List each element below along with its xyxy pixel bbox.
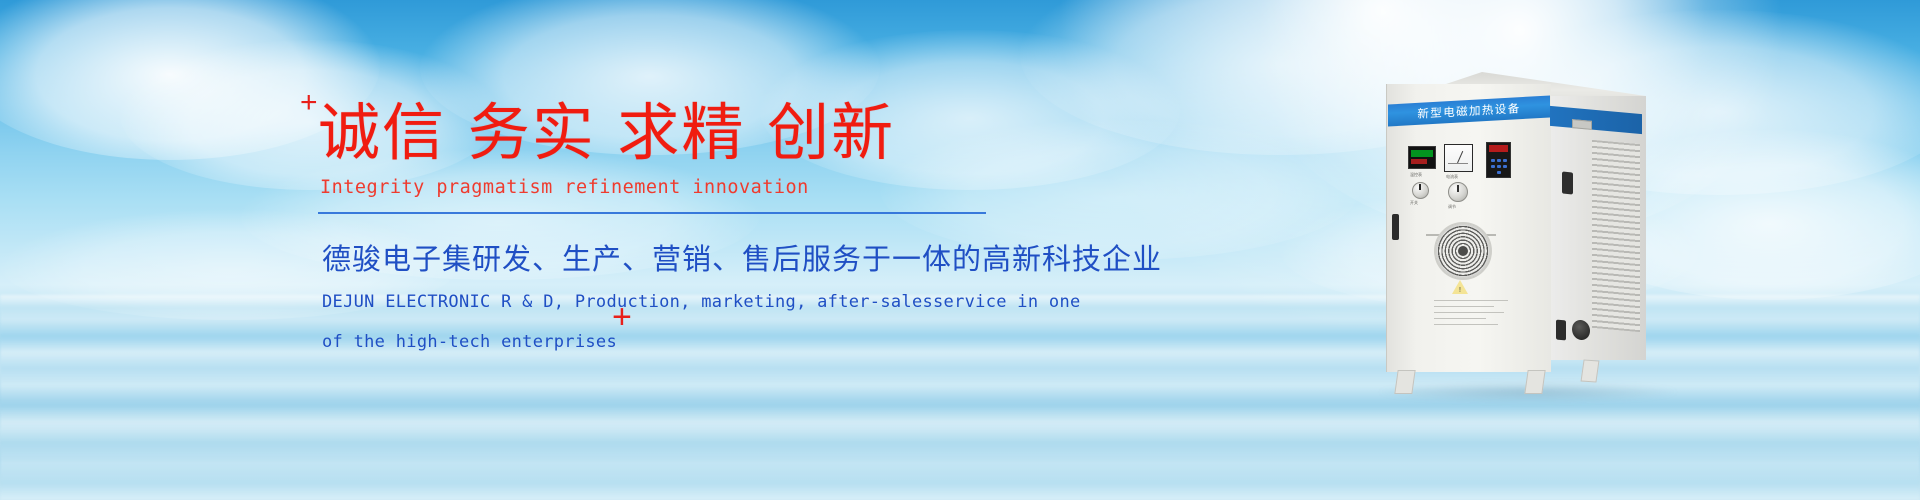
cooling-fan-icon (1434, 222, 1492, 280)
description-english-line1: DEJUN ELECTRONIC R & D, Production, mark… (322, 288, 1018, 318)
meter-digits-green (1411, 150, 1433, 157)
cabinet-foot (1524, 370, 1545, 394)
control-label: 开关 (1410, 200, 1418, 206)
keypad-button (1497, 159, 1501, 162)
plus-decoration-icon: + (300, 88, 318, 118)
side-latch (1572, 119, 1592, 130)
front-edge-trim (1392, 214, 1399, 240)
control-label: 调节 (1448, 204, 1456, 210)
keypad-controller-icon (1486, 142, 1511, 178)
selector-knob-icon (1412, 182, 1429, 199)
keypad-button (1497, 165, 1501, 168)
meter-digits-red (1411, 159, 1427, 164)
connector-port (1556, 320, 1566, 341)
headline-subtitle-english: Integrity pragmatism refinement innovati… (320, 177, 1018, 198)
product-label-text: 新型电磁加热设备 (1417, 100, 1520, 122)
keypad-button (1491, 165, 1495, 168)
gauge-needle-icon (1457, 151, 1463, 163)
digital-meter-icon (1408, 146, 1436, 169)
control-label: 电流表 (1446, 174, 1458, 180)
page-title: 诚信 务实 求精 创新 (318, 96, 1018, 169)
ventilation-louvers (1592, 140, 1640, 332)
adjustment-knob-icon (1448, 182, 1468, 202)
company-banner: + + 诚信 务实 求精 创新 Integrity pragmatism ref… (0, 0, 1920, 500)
keypad-button (1503, 165, 1507, 168)
cable-gland-icon (1572, 319, 1590, 341)
analog-gauge-icon (1444, 144, 1473, 172)
description-english-line2: of the high-tech enterprises (322, 328, 1018, 358)
cabinet-foot (1394, 370, 1415, 394)
instruction-text-lines (1434, 300, 1510, 330)
door-handle (1562, 171, 1573, 194)
divider (318, 212, 986, 214)
control-label: 温控表 (1410, 172, 1422, 178)
keypad-display (1489, 145, 1508, 152)
keypad-button (1497, 171, 1501, 174)
product-image-heating-equipment: 新型电磁加热设备 温控表 电流表 开关 调节 (1386, 62, 1686, 392)
warning-symbol-icon: ! (1459, 287, 1461, 294)
gauge-scale (1448, 163, 1468, 164)
banner-copy: 诚信 务实 求精 创新 Integrity pragmatism refinem… (318, 96, 1018, 358)
keypad-button (1491, 159, 1495, 162)
cabinet-foot (1581, 359, 1600, 382)
description-chinese: 德骏电子集研发、生产、营销、售后服务于一体的高新科技企业 (322, 236, 1018, 278)
keypad-button (1503, 159, 1507, 162)
